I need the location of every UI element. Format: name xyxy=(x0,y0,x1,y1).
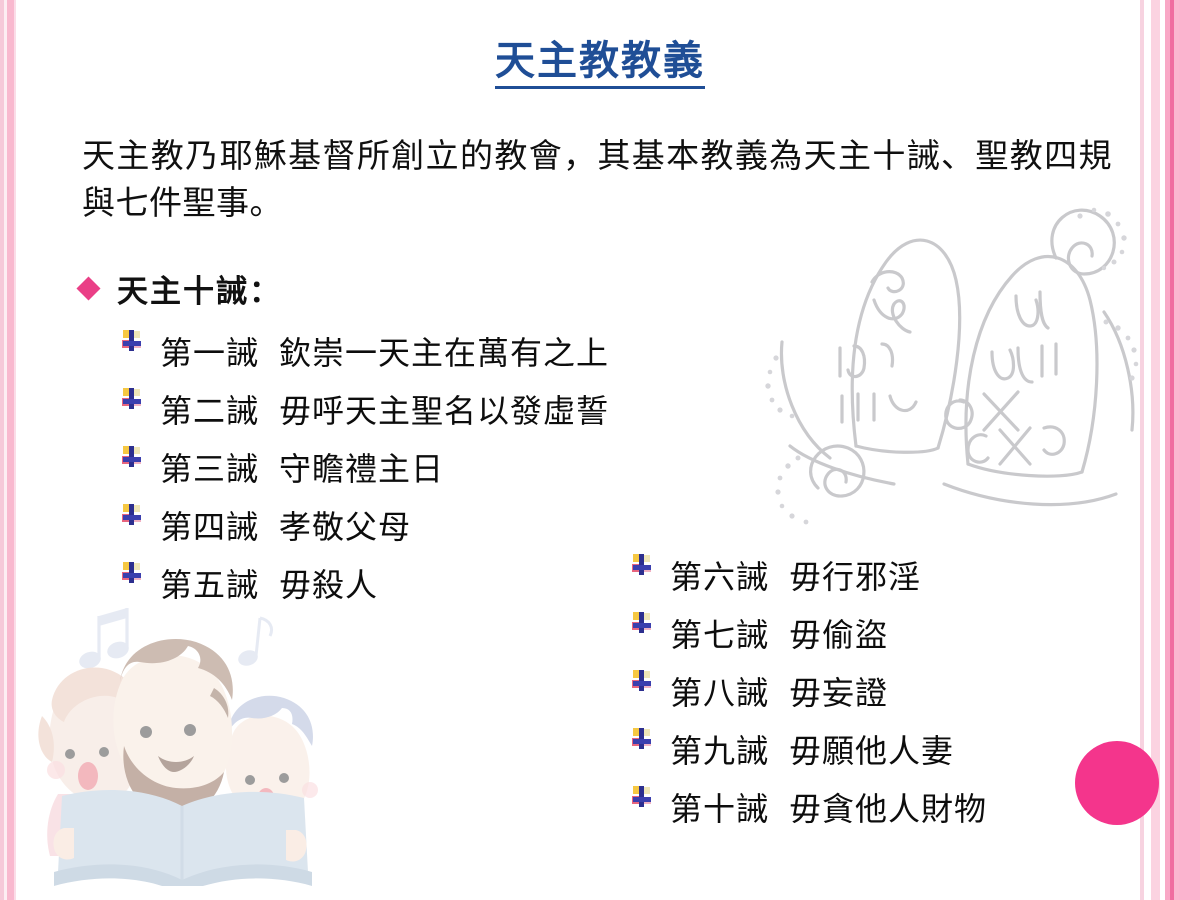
commandment-list-left: 第一誡 欽崇一天主在萬有之上 第二誡 毋呼天主聖名以發虛誓 第三誡 守瞻禮主日 … xyxy=(122,328,609,618)
list-item: 第五誡 毋殺人 xyxy=(122,560,609,618)
intro-paragraph: 天主教乃耶穌基督所創立的教會，其基本教義為天主十誡、聖教四規與七件聖事。 xyxy=(82,134,1112,228)
stone-tablets-icon xyxy=(760,196,1160,546)
commandment-text: 毋偷盜 xyxy=(789,610,888,656)
commandment-text: 毋呼天主聖名以發虛誓 xyxy=(279,386,609,432)
cross-bullet-icon xyxy=(632,554,652,575)
cross-bullet-icon xyxy=(122,504,142,525)
diamond-bullet-icon xyxy=(76,276,100,300)
cross-bullet-icon xyxy=(632,670,652,691)
commandment-number: 第二誡 xyxy=(160,386,259,432)
section-heading: 天主十誡： xyxy=(80,266,282,311)
list-item: 第七誡 毋偷盜 xyxy=(632,610,987,668)
cross-bullet-icon xyxy=(632,728,652,749)
cross-bullet-icon xyxy=(122,446,142,467)
title-container: 天主教教義 xyxy=(0,40,1200,89)
page-title: 天主教教義 xyxy=(495,40,705,89)
list-item: 第九誡 毋願他人妻 xyxy=(632,726,987,784)
right-border-stripe-8 xyxy=(1179,0,1200,900)
left-border-stripe-4 xyxy=(14,0,16,900)
commandment-text: 孝敬父母 xyxy=(279,502,411,548)
pink-circle-accent xyxy=(1075,741,1159,825)
commandment-list-right: 第六誡 毋行邪淫 第七誡 毋偷盜 第八誡 毋妄證 第九誡 毋願他人妻 xyxy=(632,552,987,842)
list-item: 第六誡 毋行邪淫 xyxy=(632,552,987,610)
cross-bullet-icon xyxy=(632,786,652,807)
commandment-text: 毋貪他人財物 xyxy=(789,784,987,830)
commandment-number: 第一誡 xyxy=(160,328,259,374)
list-item: 第八誡 毋妄證 xyxy=(632,668,987,726)
cross-bullet-icon xyxy=(122,330,142,351)
commandment-text: 欽崇一天主在萬有之上 xyxy=(279,328,609,374)
commandment-text: 毋殺人 xyxy=(279,560,378,606)
left-border-stripe-3 xyxy=(7,0,14,900)
list-item: 第四誡 孝敬父母 xyxy=(122,502,609,560)
commandment-number: 第四誡 xyxy=(160,502,259,548)
cross-bullet-icon xyxy=(632,612,652,633)
list-item: 第三誡 守瞻禮主日 xyxy=(122,444,609,502)
slide-canvas: 天主教教義 天主教乃耶穌基督所創立的教會，其基本教義為天主十誡、聖教四規與七件聖… xyxy=(0,0,1200,900)
family-singing-illustration xyxy=(18,596,348,886)
list-item: 第一誡 欽崇一天主在萬有之上 xyxy=(122,328,609,386)
commandment-number: 第七誡 xyxy=(670,610,769,656)
section-heading-label: 天主十誡： xyxy=(117,266,282,311)
list-item: 第十誡 毋貪他人財物 xyxy=(632,784,987,842)
commandment-text: 毋願他人妻 xyxy=(789,726,954,772)
commandment-text: 毋妄證 xyxy=(789,668,888,714)
commandment-number: 第六誡 xyxy=(670,552,769,598)
commandment-text: 守瞻禮主日 xyxy=(279,444,444,490)
commandment-number: 第三誡 xyxy=(160,444,259,490)
list-item: 第二誡 毋呼天主聖名以發虛誓 xyxy=(122,386,609,444)
cross-bullet-icon xyxy=(122,388,142,409)
commandment-number: 第九誡 xyxy=(670,726,769,772)
commandment-number: 第五誡 xyxy=(160,560,259,606)
cross-bullet-icon xyxy=(122,562,142,583)
commandment-number: 第八誡 xyxy=(670,668,769,714)
commandment-number: 第十誡 xyxy=(670,784,769,830)
commandment-text: 毋行邪淫 xyxy=(789,552,921,598)
